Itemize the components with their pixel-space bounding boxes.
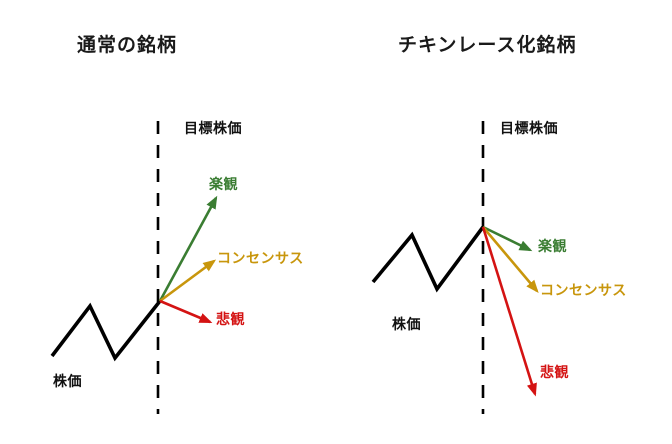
- arrow-pessimistic: [483, 227, 535, 394]
- arrow-consensus: [160, 261, 214, 301]
- arrow-label-consensus: コンセンサス: [217, 248, 304, 268]
- panel-title-normal: 通常の銘柄: [77, 30, 177, 57]
- price-line: [373, 227, 483, 289]
- target-price-label: 目標株価: [500, 118, 558, 138]
- diagram-vector-layer: [0, 0, 672, 444]
- arrow-label-optimistic: 楽観: [538, 236, 567, 256]
- arrow-label-pessimistic: 悲観: [216, 309, 245, 329]
- arrow-label-pessimistic: 悲観: [540, 362, 569, 382]
- price-line: [52, 301, 160, 358]
- arrow-pessimistic: [160, 301, 210, 322]
- arrow-label-consensus: コンセンサス: [540, 280, 627, 300]
- price-label: 株価: [392, 314, 421, 334]
- target-price-label: 目標株価: [184, 118, 242, 138]
- arrow-label-optimistic: 楽観: [209, 174, 238, 194]
- arrow-consensus: [483, 227, 537, 291]
- diagram-canvas: 通常の銘柄 目標株価 株価 楽観 コンセンサス 悲観 チキンレース化銘柄 目標株…: [0, 0, 672, 444]
- panel-title-chicken-race: チキンレース化銘柄: [398, 30, 576, 57]
- panel-chicken-race-graphics: [373, 121, 537, 414]
- arrow-optimistic: [160, 198, 216, 301]
- price-label: 株価: [53, 371, 82, 391]
